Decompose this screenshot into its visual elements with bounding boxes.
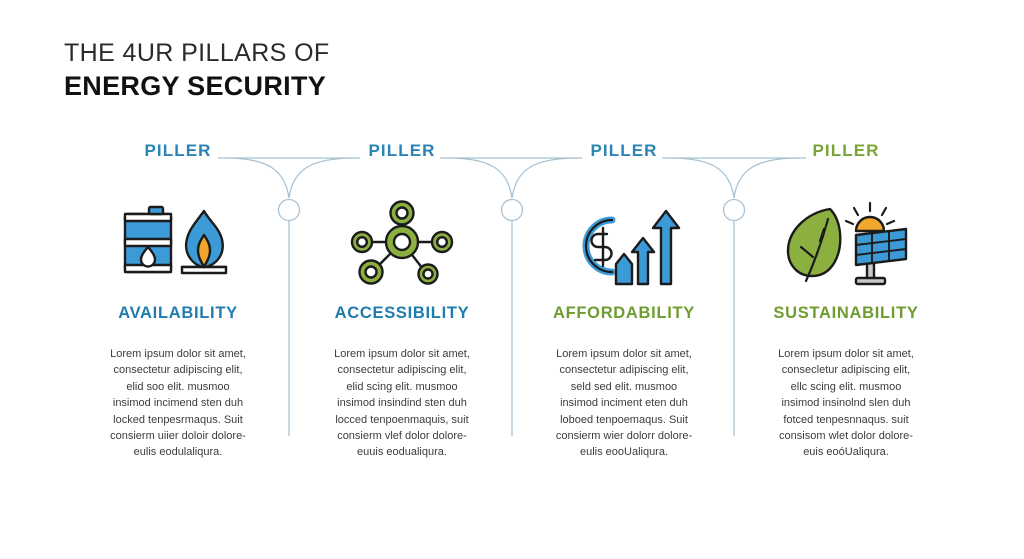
piller-label-3: PILLER bbox=[512, 140, 736, 162]
pillars-row: PILLER bbox=[0, 0, 1024, 559]
category-title-availability: AVAILABILITY bbox=[66, 302, 290, 324]
pillar-column-availability[interactable]: PILLER bbox=[66, 140, 290, 461]
piller-label-2: PILLER bbox=[290, 140, 514, 162]
pillar-column-accessibility[interactable]: PILLER bbox=[290, 140, 514, 461]
piller-label-1: PILLER bbox=[66, 140, 290, 162]
oil-barrel-flame-icon bbox=[66, 192, 290, 292]
piller-label-4: PILLER bbox=[734, 140, 958, 162]
body-text-availability: Lorem ipsum dolor sit amet, consectetur … bbox=[66, 346, 290, 461]
body-text-accessibility: Lorem ipsum dolor sit amet, consectetur … bbox=[290, 346, 514, 461]
leaf-solar-panel-icon bbox=[734, 192, 958, 292]
category-title-sustainability: SUSTAINABILITY bbox=[734, 302, 958, 324]
category-title-affordability: AFFORDABILITY bbox=[512, 302, 736, 324]
network-hub-icon bbox=[290, 192, 514, 292]
pillar-column-affordability[interactable]: PILLER bbox=[512, 140, 736, 461]
infographic-canvas: THE 4UR PILLARS OF ENERGY SECURITY bbox=[0, 0, 1024, 559]
pillar-column-sustainability[interactable]: PILLER bbox=[734, 140, 958, 461]
body-text-affordability: Lorem ipsum dolor sit amet, consectetur … bbox=[512, 346, 736, 461]
category-title-accessibility: ACCESSIBILITY bbox=[290, 302, 514, 324]
body-text-sustainability: Lorem ipsum dolor sit amet, consecletur … bbox=[734, 346, 958, 461]
dollar-growth-chart-icon bbox=[512, 192, 736, 292]
